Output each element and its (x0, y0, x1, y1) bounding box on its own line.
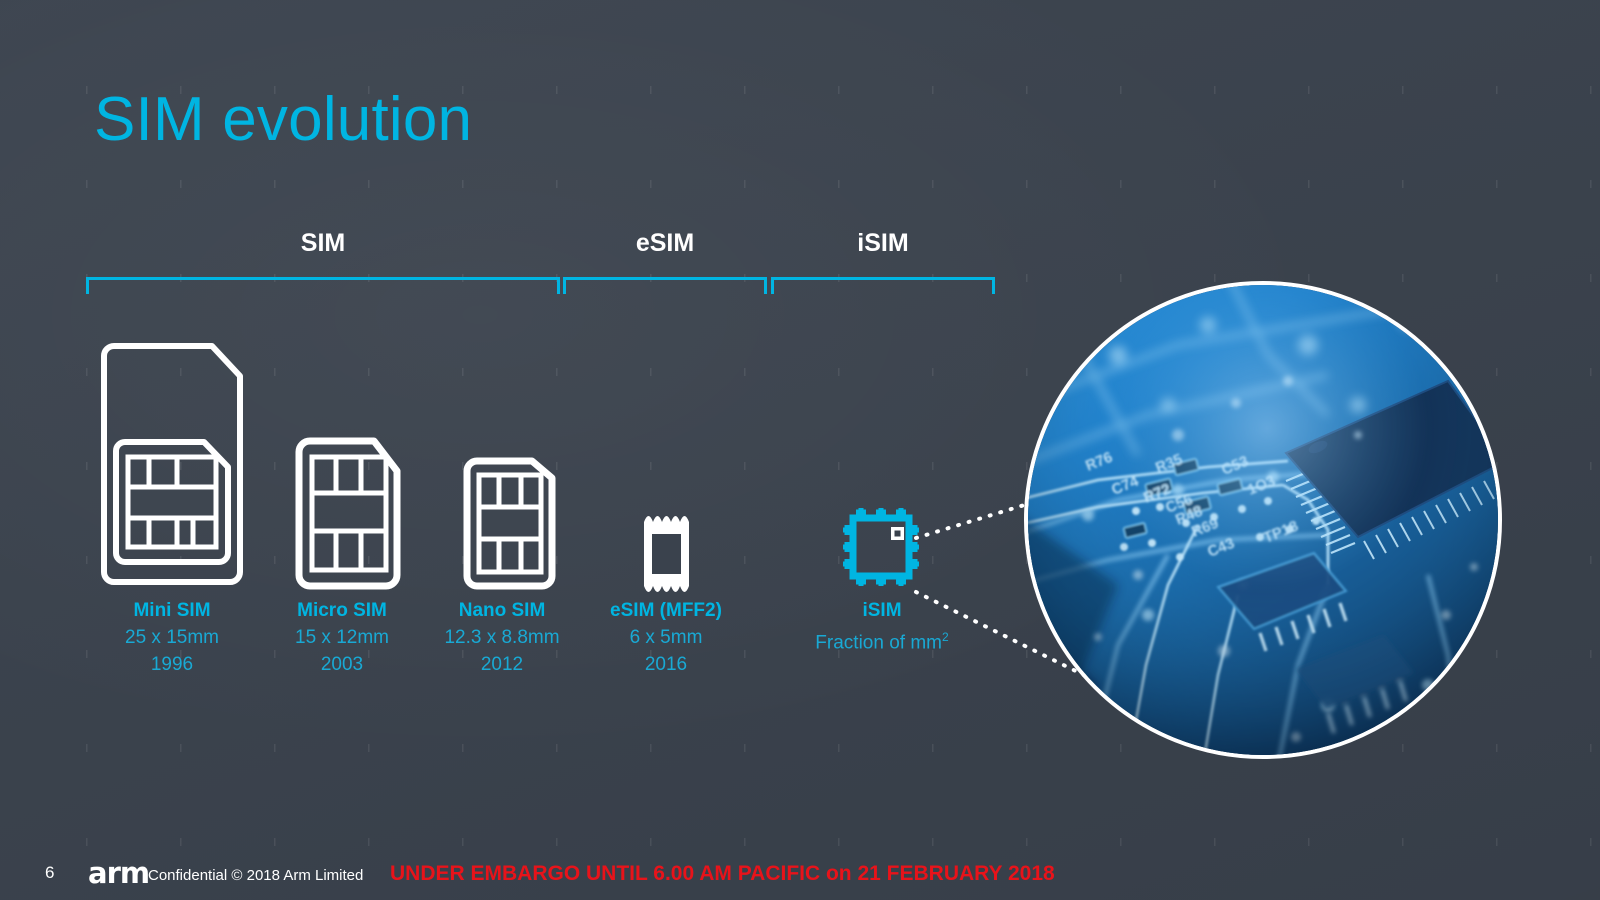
circuit-board-photo: C74 R72 C56 R48 R69 TP18 C43 1O3 R35 R76… (1024, 281, 1502, 759)
device-name: Mini SIM (86, 598, 258, 624)
mini-sim-card-icon (86, 340, 258, 598)
slide-footer: 6 arm Confidential © 2018 Arm Limited UN… (0, 840, 1600, 900)
caption-mini-sim: Mini SIM 25 x 15mm 1996 (86, 598, 258, 678)
micro-sim-card-icon (256, 340, 428, 598)
device-mini-sim: Mini SIM 25 x 15mm 1996 (86, 340, 258, 678)
device-dimensions: 25 x 15mm (86, 624, 258, 651)
esim-mff2-chip-icon (580, 340, 752, 598)
device-name: Micro SIM (256, 598, 428, 624)
category-label-isim: iSIM (771, 229, 995, 258)
device-nano-sim: Nano SIM 12.3 x 8.8mm 2012 (416, 340, 588, 678)
nano-sim-card-icon (416, 340, 588, 598)
device-isim: iSIM Fraction of mm2 (796, 340, 968, 656)
slide-canvas: SIM evolution SIM eSIM iSIM (0, 0, 1600, 900)
bracket-esim (563, 277, 767, 294)
caption-isim: iSIM Fraction of mm2 (796, 598, 968, 656)
device-dimensions: 15 x 12mm (256, 624, 428, 651)
isim-microchip-icon (796, 340, 968, 598)
device-year: 2016 (580, 651, 752, 678)
dimensions-text: Fraction of mm (815, 632, 942, 653)
device-dimensions: 12.3 x 8.8mm (416, 624, 588, 651)
caption-esim: eSIM (MFF2) 6 x 5mm 2016 (580, 598, 752, 678)
confidential-notice: Confidential © 2018 Arm Limited (148, 867, 363, 884)
arm-logo: arm (88, 859, 149, 888)
device-dimensions: 6 x 5mm (580, 624, 752, 651)
page-title: SIM evolution (94, 84, 472, 156)
device-name: eSIM (MFF2) (580, 598, 752, 624)
device-name: iSIM (796, 598, 968, 624)
device-micro-sim: Micro SIM 15 x 12mm 2003 (256, 340, 428, 678)
device-dimensions: Fraction of mm2 (796, 624, 968, 656)
bracket-sim (86, 277, 560, 294)
device-esim: eSIM (MFF2) 6 x 5mm 2016 (580, 340, 752, 678)
category-label-esim: eSIM (563, 229, 767, 258)
page-number: 6 (45, 863, 54, 883)
bracket-isim (771, 277, 995, 294)
caption-nano-sim: Nano SIM 12.3 x 8.8mm 2012 (416, 598, 588, 678)
device-year: 2003 (256, 651, 428, 678)
device-name: Nano SIM (416, 598, 588, 624)
device-year: 1996 (86, 651, 258, 678)
category-label-sim: SIM (86, 229, 560, 258)
embargo-notice: UNDER EMBARGO UNTIL 6.00 AM PACIFIC on 2… (390, 862, 1055, 886)
dimensions-superscript: 2 (942, 630, 949, 644)
caption-micro-sim: Micro SIM 15 x 12mm 2003 (256, 598, 428, 678)
device-year: 2012 (416, 651, 588, 678)
